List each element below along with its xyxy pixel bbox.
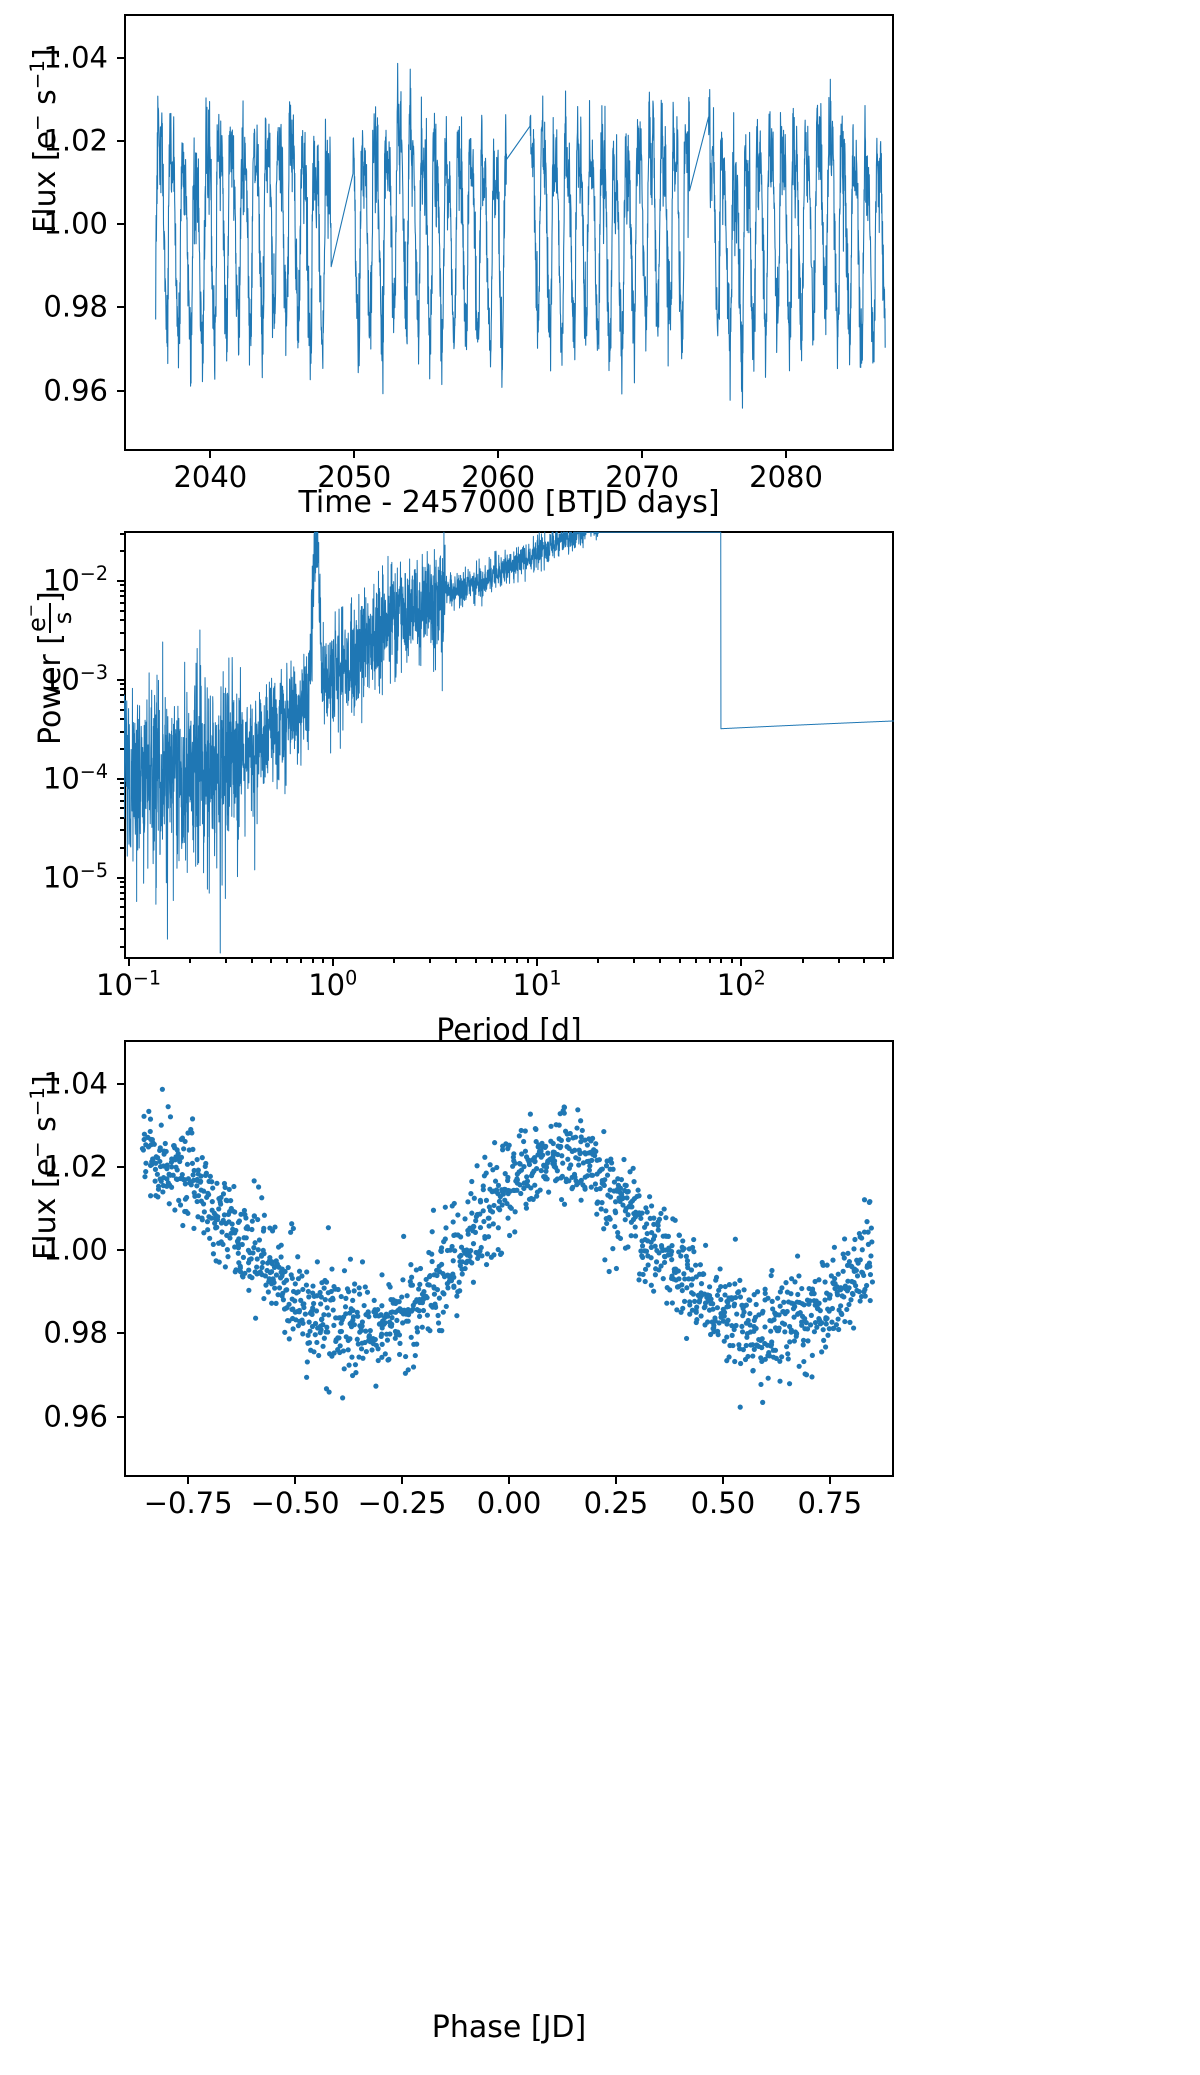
data-point	[518, 1191, 523, 1196]
data-point	[451, 1285, 456, 1290]
data-point	[228, 1198, 233, 1203]
data-point	[639, 1211, 644, 1216]
data-point	[817, 1301, 822, 1306]
data-point	[669, 1243, 674, 1248]
xtick-label: 2080	[749, 463, 823, 492]
data-point	[387, 1331, 392, 1336]
xtick-minor	[491, 959, 493, 963]
data-point	[454, 1294, 459, 1299]
data-point	[467, 1254, 472, 1259]
data-point	[481, 1183, 486, 1188]
data-point	[679, 1282, 684, 1287]
data-point	[482, 1155, 487, 1160]
data-point	[458, 1234, 463, 1239]
data-point	[307, 1340, 312, 1345]
data-point	[858, 1257, 863, 1262]
data-point	[533, 1127, 538, 1132]
data-point	[486, 1234, 491, 1239]
data-point	[614, 1266, 619, 1271]
xtick-minor	[659, 959, 661, 963]
data-point	[310, 1312, 315, 1317]
data-point	[754, 1302, 759, 1307]
data-point	[669, 1257, 674, 1262]
ytick-label: 0.98	[0, 293, 108, 322]
data-point	[148, 1193, 153, 1198]
data-point	[246, 1267, 251, 1272]
data-point	[799, 1286, 804, 1291]
data-point	[534, 1166, 539, 1171]
data-point	[836, 1316, 841, 1321]
data-point	[507, 1143, 512, 1148]
data-point	[343, 1304, 348, 1309]
data-point	[423, 1294, 428, 1299]
data-point	[689, 1282, 694, 1287]
data-point	[316, 1353, 321, 1358]
data-point	[417, 1314, 422, 1319]
data-point	[225, 1254, 230, 1259]
light-curve-line	[156, 63, 886, 408]
data-point	[182, 1139, 187, 1144]
data-point	[304, 1269, 309, 1274]
data-point	[418, 1266, 423, 1271]
data-point	[710, 1307, 715, 1312]
data-point	[359, 1346, 364, 1351]
data-point	[868, 1272, 873, 1277]
data-point	[155, 1172, 160, 1177]
data-point	[838, 1303, 843, 1308]
data-point	[623, 1217, 628, 1222]
data-point	[640, 1255, 645, 1260]
data-point	[319, 1317, 324, 1322]
data-point	[771, 1317, 776, 1322]
data-point	[286, 1302, 291, 1307]
data-point	[360, 1259, 365, 1264]
data-point	[636, 1193, 641, 1198]
data-point	[201, 1201, 206, 1206]
data-point	[479, 1245, 484, 1250]
data-point	[314, 1340, 319, 1345]
data-point	[792, 1338, 797, 1343]
data-point	[414, 1342, 419, 1347]
data-point	[649, 1255, 654, 1260]
data-point	[357, 1292, 362, 1297]
data-point	[744, 1303, 749, 1308]
data-point	[278, 1254, 283, 1259]
data-point	[557, 1123, 562, 1128]
data-point	[582, 1185, 587, 1190]
data-point	[207, 1236, 212, 1241]
data-point	[284, 1287, 289, 1292]
data-point	[425, 1313, 430, 1318]
xtick-minor	[633, 959, 635, 963]
data-point	[181, 1146, 186, 1151]
data-point	[481, 1219, 486, 1224]
data-point	[383, 1320, 388, 1325]
data-point	[523, 1128, 528, 1133]
data-point	[624, 1183, 629, 1188]
xtick-minor	[270, 959, 272, 963]
data-point	[211, 1242, 216, 1247]
data-point	[409, 1275, 414, 1280]
data-point	[269, 1269, 274, 1274]
ytick-minor	[120, 892, 124, 894]
data-point	[603, 1208, 608, 1213]
data-point	[272, 1224, 277, 1229]
data-point	[613, 1210, 618, 1215]
data-point	[253, 1316, 258, 1321]
data-point	[366, 1309, 371, 1314]
xtick-label: −0.75	[144, 1489, 233, 1518]
data-point	[694, 1305, 699, 1310]
data-point	[577, 1151, 582, 1156]
data-point	[304, 1375, 309, 1380]
phase-folded-ylabel-text: Flux [e− s−1]	[28, 1075, 63, 1260]
data-point	[163, 1141, 168, 1146]
data-point	[315, 1259, 320, 1264]
data-point	[405, 1293, 410, 1298]
ytick-minor	[120, 807, 124, 809]
data-point	[445, 1285, 450, 1290]
data-point	[403, 1354, 408, 1359]
data-point	[322, 1336, 327, 1341]
data-point	[528, 1112, 533, 1117]
data-point	[574, 1125, 579, 1130]
data-point	[784, 1344, 789, 1349]
xtick-mark	[294, 1477, 296, 1484]
xtick-mark	[615, 1477, 617, 1484]
data-point	[427, 1274, 432, 1279]
ytick-minor	[120, 602, 124, 604]
data-point	[451, 1219, 456, 1224]
data-point	[825, 1333, 830, 1338]
data-point	[649, 1283, 654, 1288]
data-point	[760, 1310, 765, 1315]
data-point	[439, 1245, 444, 1250]
data-point	[552, 1158, 557, 1163]
data-point	[864, 1283, 869, 1288]
data-point	[795, 1253, 800, 1258]
data-point	[326, 1312, 331, 1317]
data-point	[607, 1269, 612, 1274]
data-point	[680, 1288, 685, 1293]
data-point	[684, 1254, 689, 1259]
data-point	[858, 1298, 863, 1303]
data-point	[323, 1297, 328, 1302]
data-point	[739, 1324, 744, 1329]
ytick-minor	[120, 688, 124, 690]
xtick-minor	[429, 959, 431, 963]
data-point	[551, 1141, 556, 1146]
data-point	[479, 1253, 484, 1258]
xtick-minor	[838, 959, 840, 963]
data-point	[682, 1299, 687, 1304]
data-point	[545, 1176, 550, 1181]
data-point	[350, 1298, 355, 1303]
xtick-mark	[353, 451, 355, 458]
data-point	[153, 1179, 158, 1184]
ytick-minor	[120, 649, 124, 651]
data-point	[797, 1364, 802, 1369]
data-point	[694, 1310, 699, 1315]
data-point	[676, 1268, 681, 1273]
data-point	[656, 1227, 661, 1232]
data-point	[198, 1179, 203, 1184]
xtick-minor	[251, 959, 253, 963]
data-point	[160, 1189, 165, 1194]
data-point	[273, 1301, 278, 1306]
data-point	[703, 1243, 708, 1248]
data-point	[362, 1303, 367, 1308]
data-point	[669, 1249, 674, 1254]
data-point	[346, 1363, 351, 1368]
xtick-mark	[332, 959, 334, 966]
data-point	[297, 1309, 302, 1314]
data-point	[736, 1342, 741, 1347]
data-point	[543, 1169, 548, 1174]
ytick-minor	[120, 800, 124, 802]
data-point	[524, 1206, 529, 1211]
data-point	[589, 1158, 594, 1163]
data-point	[394, 1318, 399, 1323]
ytick-minor	[120, 906, 124, 908]
data-point	[462, 1216, 467, 1221]
light-curve-ylabel: Flux [e− s−1]	[28, 48, 63, 233]
data-point	[568, 1162, 573, 1167]
data-point	[203, 1161, 208, 1166]
data-point	[153, 1167, 158, 1172]
data-point	[178, 1202, 183, 1207]
data-point	[808, 1322, 813, 1327]
data-point	[737, 1278, 742, 1283]
data-point	[869, 1225, 874, 1230]
ytick-minor	[120, 847, 124, 849]
data-point	[722, 1310, 727, 1315]
xtick-minor	[731, 959, 733, 963]
data-point	[379, 1303, 384, 1308]
data-point	[532, 1183, 537, 1188]
data-point	[576, 1162, 581, 1167]
data-point	[190, 1116, 195, 1121]
data-point	[601, 1129, 606, 1134]
data-point	[452, 1201, 457, 1206]
data-point	[605, 1173, 610, 1178]
data-point	[189, 1130, 194, 1135]
data-point	[867, 1199, 872, 1204]
data-point	[285, 1318, 290, 1323]
data-point	[166, 1104, 171, 1109]
ytick-mark	[117, 877, 124, 879]
xtick-label: 2040	[173, 463, 247, 492]
data-point	[293, 1281, 298, 1286]
ytick-minor	[120, 584, 124, 586]
data-point	[851, 1246, 856, 1251]
panel-periodogram	[124, 531, 894, 959]
data-point	[190, 1147, 195, 1152]
data-point	[538, 1187, 543, 1192]
data-point	[469, 1260, 474, 1265]
data-point	[406, 1319, 411, 1324]
data-point	[372, 1298, 377, 1303]
xtick-label: 0.75	[798, 1489, 863, 1518]
data-point	[738, 1361, 743, 1366]
data-point	[738, 1405, 743, 1410]
data-point	[338, 1343, 343, 1348]
data-point	[375, 1307, 380, 1312]
data-point	[375, 1346, 380, 1351]
data-point	[587, 1163, 592, 1168]
data-point	[854, 1268, 859, 1273]
data-point	[689, 1267, 694, 1272]
data-point	[631, 1166, 636, 1171]
data-point	[261, 1296, 266, 1301]
xtick-label: 102	[717, 971, 766, 1000]
data-point	[385, 1357, 390, 1362]
data-point	[847, 1259, 852, 1264]
figure-canvas: 0.960.981.001.021.04 2040205020602070208…	[0, 0, 1200, 2075]
data-point	[597, 1157, 602, 1162]
data-point	[284, 1278, 289, 1283]
data-point	[484, 1171, 489, 1176]
data-point	[205, 1219, 210, 1224]
data-point	[621, 1157, 626, 1162]
data-point	[841, 1252, 846, 1257]
data-point	[661, 1276, 666, 1281]
data-point	[847, 1320, 852, 1325]
data-point	[701, 1272, 706, 1277]
data-point	[164, 1149, 169, 1154]
data-point	[604, 1221, 609, 1226]
data-point	[785, 1309, 790, 1314]
data-point	[437, 1296, 442, 1301]
data-point	[673, 1218, 678, 1223]
data-point	[601, 1226, 606, 1231]
data-point	[517, 1133, 522, 1138]
data-point	[562, 1105, 567, 1110]
data-point	[585, 1142, 590, 1147]
data-point	[699, 1313, 704, 1318]
data-point	[327, 1389, 332, 1394]
data-point	[246, 1288, 251, 1293]
data-point	[678, 1253, 683, 1258]
data-point	[249, 1227, 254, 1232]
data-point	[320, 1344, 325, 1349]
data-point	[254, 1264, 259, 1269]
data-point	[770, 1299, 775, 1304]
data-point	[397, 1332, 402, 1337]
data-point	[318, 1327, 323, 1332]
data-point	[680, 1306, 685, 1311]
data-point	[255, 1256, 260, 1261]
data-point	[505, 1175, 510, 1180]
data-point	[677, 1233, 682, 1238]
data-point	[441, 1310, 446, 1315]
data-point	[579, 1198, 584, 1203]
xtick-minor	[883, 959, 885, 963]
data-point	[777, 1359, 782, 1364]
data-point	[336, 1335, 341, 1340]
data-point	[602, 1177, 607, 1182]
xtick-mark	[740, 959, 742, 966]
phase-folded-plot	[124, 1040, 894, 1477]
data-point	[281, 1297, 286, 1302]
data-point	[755, 1289, 760, 1294]
data-point	[167, 1201, 172, 1206]
data-point	[233, 1269, 238, 1274]
data-point	[860, 1247, 865, 1252]
data-point	[870, 1279, 875, 1284]
data-point	[649, 1203, 654, 1208]
data-point	[773, 1348, 778, 1353]
data-point	[271, 1280, 276, 1285]
data-point	[545, 1151, 550, 1156]
data-point	[304, 1282, 309, 1287]
data-point	[435, 1287, 440, 1292]
data-point	[231, 1184, 236, 1189]
data-point	[778, 1304, 783, 1309]
xtick-label: −0.50	[251, 1489, 340, 1518]
data-point	[694, 1317, 699, 1322]
data-point	[644, 1249, 649, 1254]
data-point	[486, 1216, 491, 1221]
data-point	[532, 1159, 537, 1164]
data-point	[260, 1260, 265, 1265]
phase-folded-ylabel: Flux [e− s−1]	[28, 1075, 63, 1260]
ytick-mark	[117, 1332, 124, 1334]
ytick-minor	[120, 694, 124, 696]
data-point	[494, 1165, 499, 1170]
periodogram-ylabel-text: Power [e−s]	[33, 591, 68, 745]
data-point	[346, 1289, 351, 1294]
data-point	[521, 1139, 526, 1144]
data-point	[775, 1296, 780, 1301]
data-point	[593, 1181, 598, 1186]
data-point	[152, 1142, 157, 1147]
ytick-mark	[117, 223, 124, 225]
xtick-mark	[209, 451, 211, 458]
data-point	[685, 1262, 690, 1267]
data-point	[491, 1203, 496, 1208]
ytick-minor	[120, 590, 124, 592]
data-point	[795, 1292, 800, 1297]
data-point	[411, 1364, 416, 1369]
data-point	[838, 1287, 843, 1292]
ytick-minor	[120, 793, 124, 795]
data-point	[400, 1277, 405, 1282]
data-point	[415, 1329, 420, 1334]
data-point	[159, 1123, 164, 1128]
xtick-label: 0.50	[691, 1489, 756, 1518]
xtick-label: 0.00	[477, 1489, 542, 1518]
data-point	[217, 1260, 222, 1265]
data-point	[846, 1285, 851, 1290]
data-point	[763, 1287, 768, 1292]
data-point	[846, 1302, 851, 1307]
xtick-mark	[722, 1477, 724, 1484]
data-point	[845, 1251, 850, 1256]
data-point	[505, 1216, 510, 1221]
data-point	[307, 1320, 312, 1325]
data-point	[593, 1149, 598, 1154]
data-point	[832, 1276, 837, 1281]
data-point	[243, 1215, 248, 1220]
data-point	[580, 1128, 585, 1133]
xtick-minor	[312, 959, 314, 963]
data-point	[142, 1174, 147, 1179]
data-point	[499, 1251, 504, 1256]
data-point	[782, 1329, 787, 1334]
data-point	[602, 1183, 607, 1188]
data-point	[433, 1305, 438, 1310]
